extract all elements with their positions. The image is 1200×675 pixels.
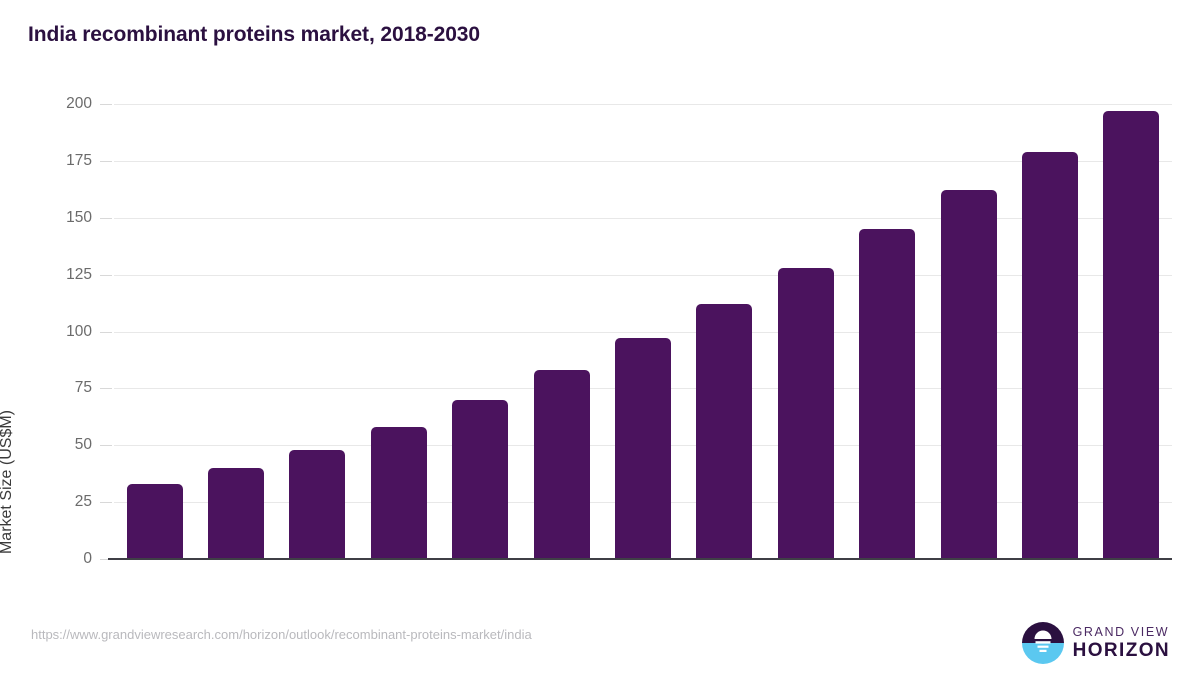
y-tick-label: 125	[22, 266, 92, 284]
bar-group	[602, 104, 683, 559]
y-tick-label: 50	[22, 436, 92, 454]
brand-name-line2: HORIZON	[1073, 641, 1170, 660]
y-tick-label: 100	[22, 323, 92, 341]
bar-group	[521, 104, 602, 559]
chart-plot: Market Size (US$M) 025507510012515017520…	[0, 0, 1200, 675]
y-tick-label: 175	[22, 152, 92, 170]
y-tick-label: 150	[22, 209, 92, 227]
bar-group	[195, 104, 276, 559]
bar-2019[interactable]	[208, 468, 264, 559]
bar-2021[interactable]	[371, 427, 427, 559]
y-tick-mark	[100, 502, 112, 503]
y-tick-mark	[100, 275, 112, 276]
bar-2023[interactable]	[534, 370, 590, 559]
bar-group	[440, 104, 521, 559]
y-tick-label: 0	[22, 550, 92, 568]
y-tick-mark	[100, 445, 112, 446]
bar-group	[277, 104, 358, 559]
bar-2029[interactable]	[1022, 152, 1078, 559]
y-tick-label: 75	[22, 379, 92, 397]
y-axis-label: Market Size (US$M)	[0, 332, 16, 632]
chart-card: India recombinant proteins market, 2018-…	[0, 0, 1200, 675]
bar-group	[765, 104, 846, 559]
bar-2026[interactable]	[778, 268, 834, 559]
brand-logo: GRAND VIEW HORIZON	[1022, 622, 1170, 664]
y-tick-mark	[100, 332, 112, 333]
bar-2018[interactable]	[127, 484, 183, 559]
bar-2022[interactable]	[452, 400, 508, 559]
bar-group	[846, 104, 927, 559]
y-tick-mark	[100, 161, 112, 162]
bar-group	[928, 104, 1009, 559]
brand-logo-text: GRAND VIEW HORIZON	[1073, 626, 1170, 661]
bar-2027[interactable]	[859, 229, 915, 559]
x-axis-line	[108, 558, 1172, 560]
brand-name-line1: GRAND VIEW	[1073, 626, 1170, 639]
source-url[interactable]: https://www.grandviewresearch.com/horizo…	[31, 627, 532, 642]
bar-group	[684, 104, 765, 559]
bars-layer: 2018201920202021202220232024202520262027…	[114, 104, 1172, 559]
bar-group	[358, 104, 439, 559]
y-tick-mark	[100, 104, 112, 105]
y-tick-label: 25	[22, 493, 92, 511]
bar-group	[114, 104, 195, 559]
bar-2030[interactable]	[1103, 111, 1159, 559]
y-tick-mark	[100, 218, 112, 219]
y-tick-mark	[100, 388, 112, 389]
y-tick-label: 200	[22, 95, 92, 113]
bar-2024[interactable]	[615, 338, 671, 559]
bar-group	[1091, 104, 1172, 559]
bar-group	[1009, 104, 1090, 559]
bar-2028[interactable]	[941, 190, 997, 559]
bar-2020[interactable]	[289, 450, 345, 559]
bar-2025[interactable]	[696, 304, 752, 559]
horizon-sun-circle-icon	[1022, 622, 1064, 664]
